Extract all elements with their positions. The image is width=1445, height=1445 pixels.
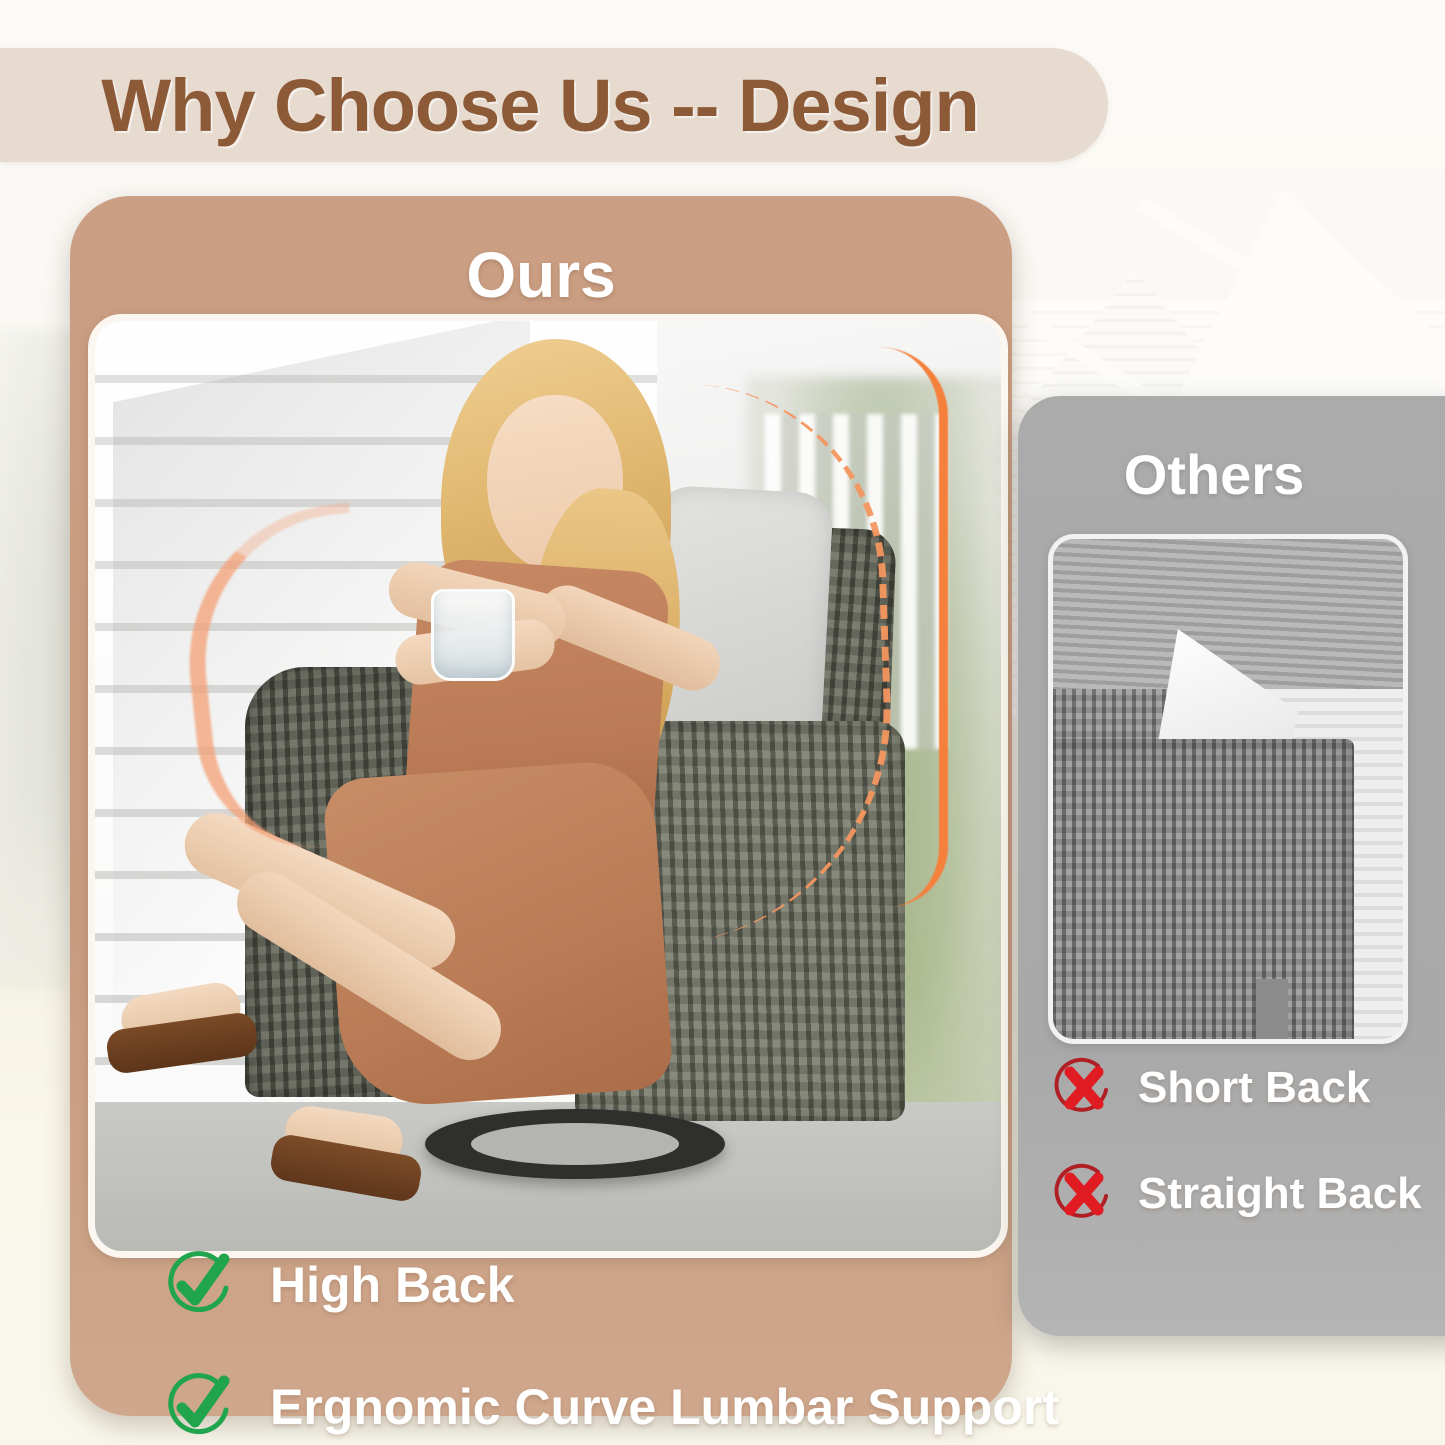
page-title: Why Choose Us -- Design [101, 63, 1006, 148]
chair-swivel-base-inner [471, 1123, 679, 1165]
chair-swivel-base [425, 1109, 725, 1179]
list-item: Short Back [1052, 1056, 1445, 1120]
list-item: Ergnomic Curve Lumbar Support [162, 1370, 1002, 1444]
list-item: High Back [162, 1248, 1002, 1322]
others-feature-list: Short Back Straight Back [1052, 1056, 1445, 1268]
list-item-label: Straight Back [1138, 1169, 1422, 1219]
x-circle-icon [1052, 1056, 1116, 1120]
ours-panel-title: Ours [70, 238, 1012, 312]
others-panel: Others Short Back [1018, 396, 1445, 1336]
list-item-label: High Back [270, 1256, 515, 1314]
drinking-glass [431, 589, 515, 681]
ours-panel: Ours [70, 196, 1012, 1416]
list-item-label: Short Back [1138, 1063, 1370, 1113]
infographic-root: Why Choose Us -- Design Ours [0, 0, 1445, 1445]
ours-feature-list: High Back Ergnomic Curve Lumbar Support [162, 1248, 1002, 1445]
check-circle-icon [162, 1370, 236, 1444]
check-circle-icon [162, 1248, 236, 1322]
others-wicker-sofa [1048, 739, 1354, 1044]
list-item: Straight Back [1052, 1162, 1445, 1226]
x-circle-icon [1052, 1162, 1116, 1226]
list-item-label: Ergnomic Curve Lumbar Support [270, 1378, 1059, 1436]
backrest-curve-annotation [859, 347, 949, 907]
page-title-banner: Why Choose Us -- Design [0, 48, 1108, 162]
others-sofa-leg [1256, 979, 1288, 1039]
ours-product-photo [88, 314, 1008, 1258]
others-product-photo [1048, 534, 1408, 1044]
ours-photo-inner [95, 321, 1001, 1251]
others-panel-title: Others [1018, 442, 1410, 507]
